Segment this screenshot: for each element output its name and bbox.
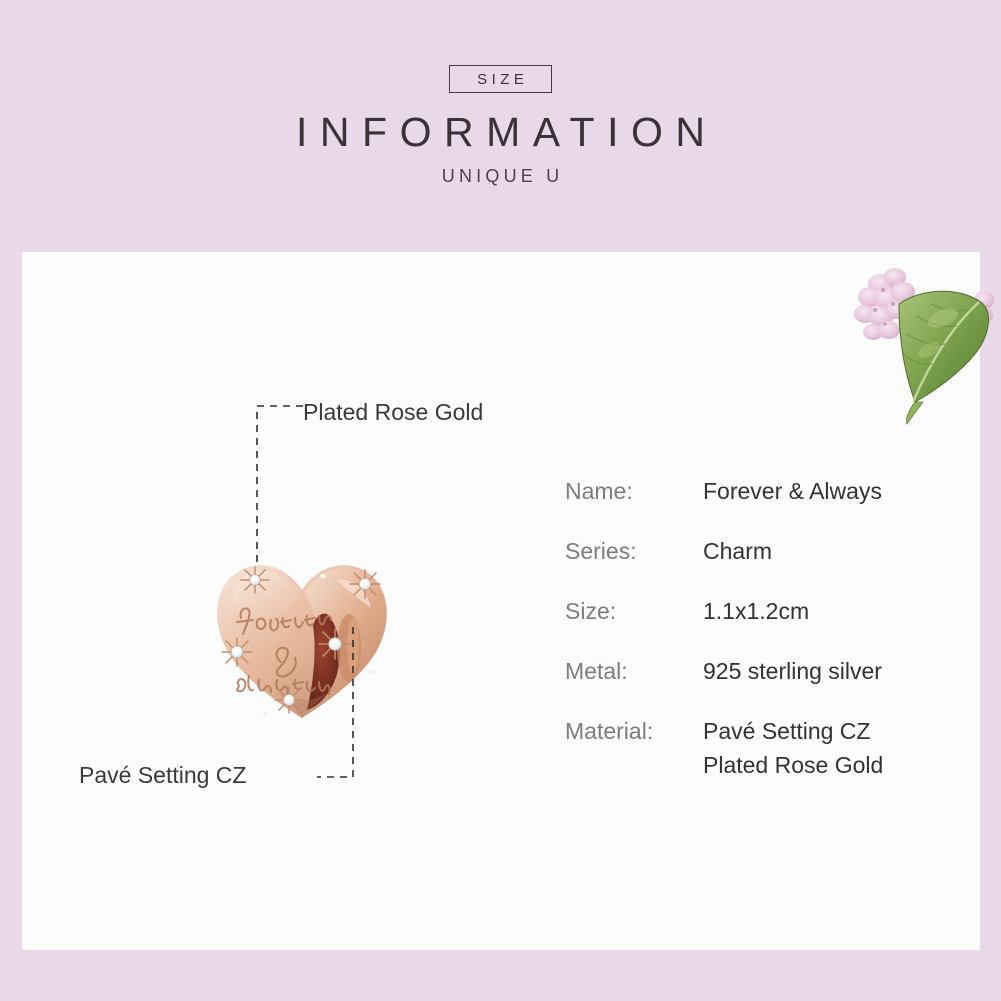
spec-label-name: Name: xyxy=(565,474,633,508)
spec-value-material-line2: Plated Rose Gold xyxy=(703,748,883,782)
information-card: Plated Rose Gold Pavé Setting CZ Name: F… xyxy=(22,252,980,950)
size-badge-label: SIZE xyxy=(473,71,529,88)
spec-row-metal: Metal: 925 sterling silver xyxy=(565,654,965,714)
spec-row-material: Material: Pavé Setting CZ Plated Rose Go… xyxy=(565,714,965,810)
spec-label-metal: Metal: xyxy=(565,654,628,688)
specification-list: Name: Forever & Always Series: Charm Siz… xyxy=(565,474,965,810)
botanical-decoration xyxy=(837,252,1001,427)
spec-value-size: 1.1x1.2cm xyxy=(703,594,809,628)
spec-label-material: Material: xyxy=(565,714,653,748)
leaf xyxy=(899,291,989,424)
spec-value-series: Charm xyxy=(703,534,772,568)
spec-label-size: Size: xyxy=(565,594,616,628)
page-header: SIZE INFORMATION UNIQUE U xyxy=(0,0,1001,252)
leader-line-pave-setting-cz xyxy=(317,627,372,782)
page-subtitle: UNIQUE U xyxy=(0,163,1001,189)
spec-value-material-line1: Pavé Setting CZ xyxy=(703,718,870,744)
spec-row-series: Series: Charm xyxy=(565,534,965,594)
callout-label-plated-rose-gold: Plated Rose Gold xyxy=(303,397,483,427)
spec-label-series: Series: xyxy=(565,534,637,568)
spec-row-size: Size: 1.1x1.2cm xyxy=(565,594,965,654)
spec-value-name: Forever & Always xyxy=(703,474,882,508)
spec-value-metal: 925 sterling silver xyxy=(703,654,882,688)
page-title: INFORMATION xyxy=(0,104,1001,160)
leader-line-plated-rose-gold xyxy=(247,402,307,572)
size-badge: SIZE xyxy=(449,65,552,93)
spec-row-name: Name: Forever & Always xyxy=(565,474,965,534)
spec-value-material: Pavé Setting CZ Plated Rose Gold xyxy=(703,714,883,782)
callout-label-pave-setting-cz: Pavé Setting CZ xyxy=(79,760,246,790)
